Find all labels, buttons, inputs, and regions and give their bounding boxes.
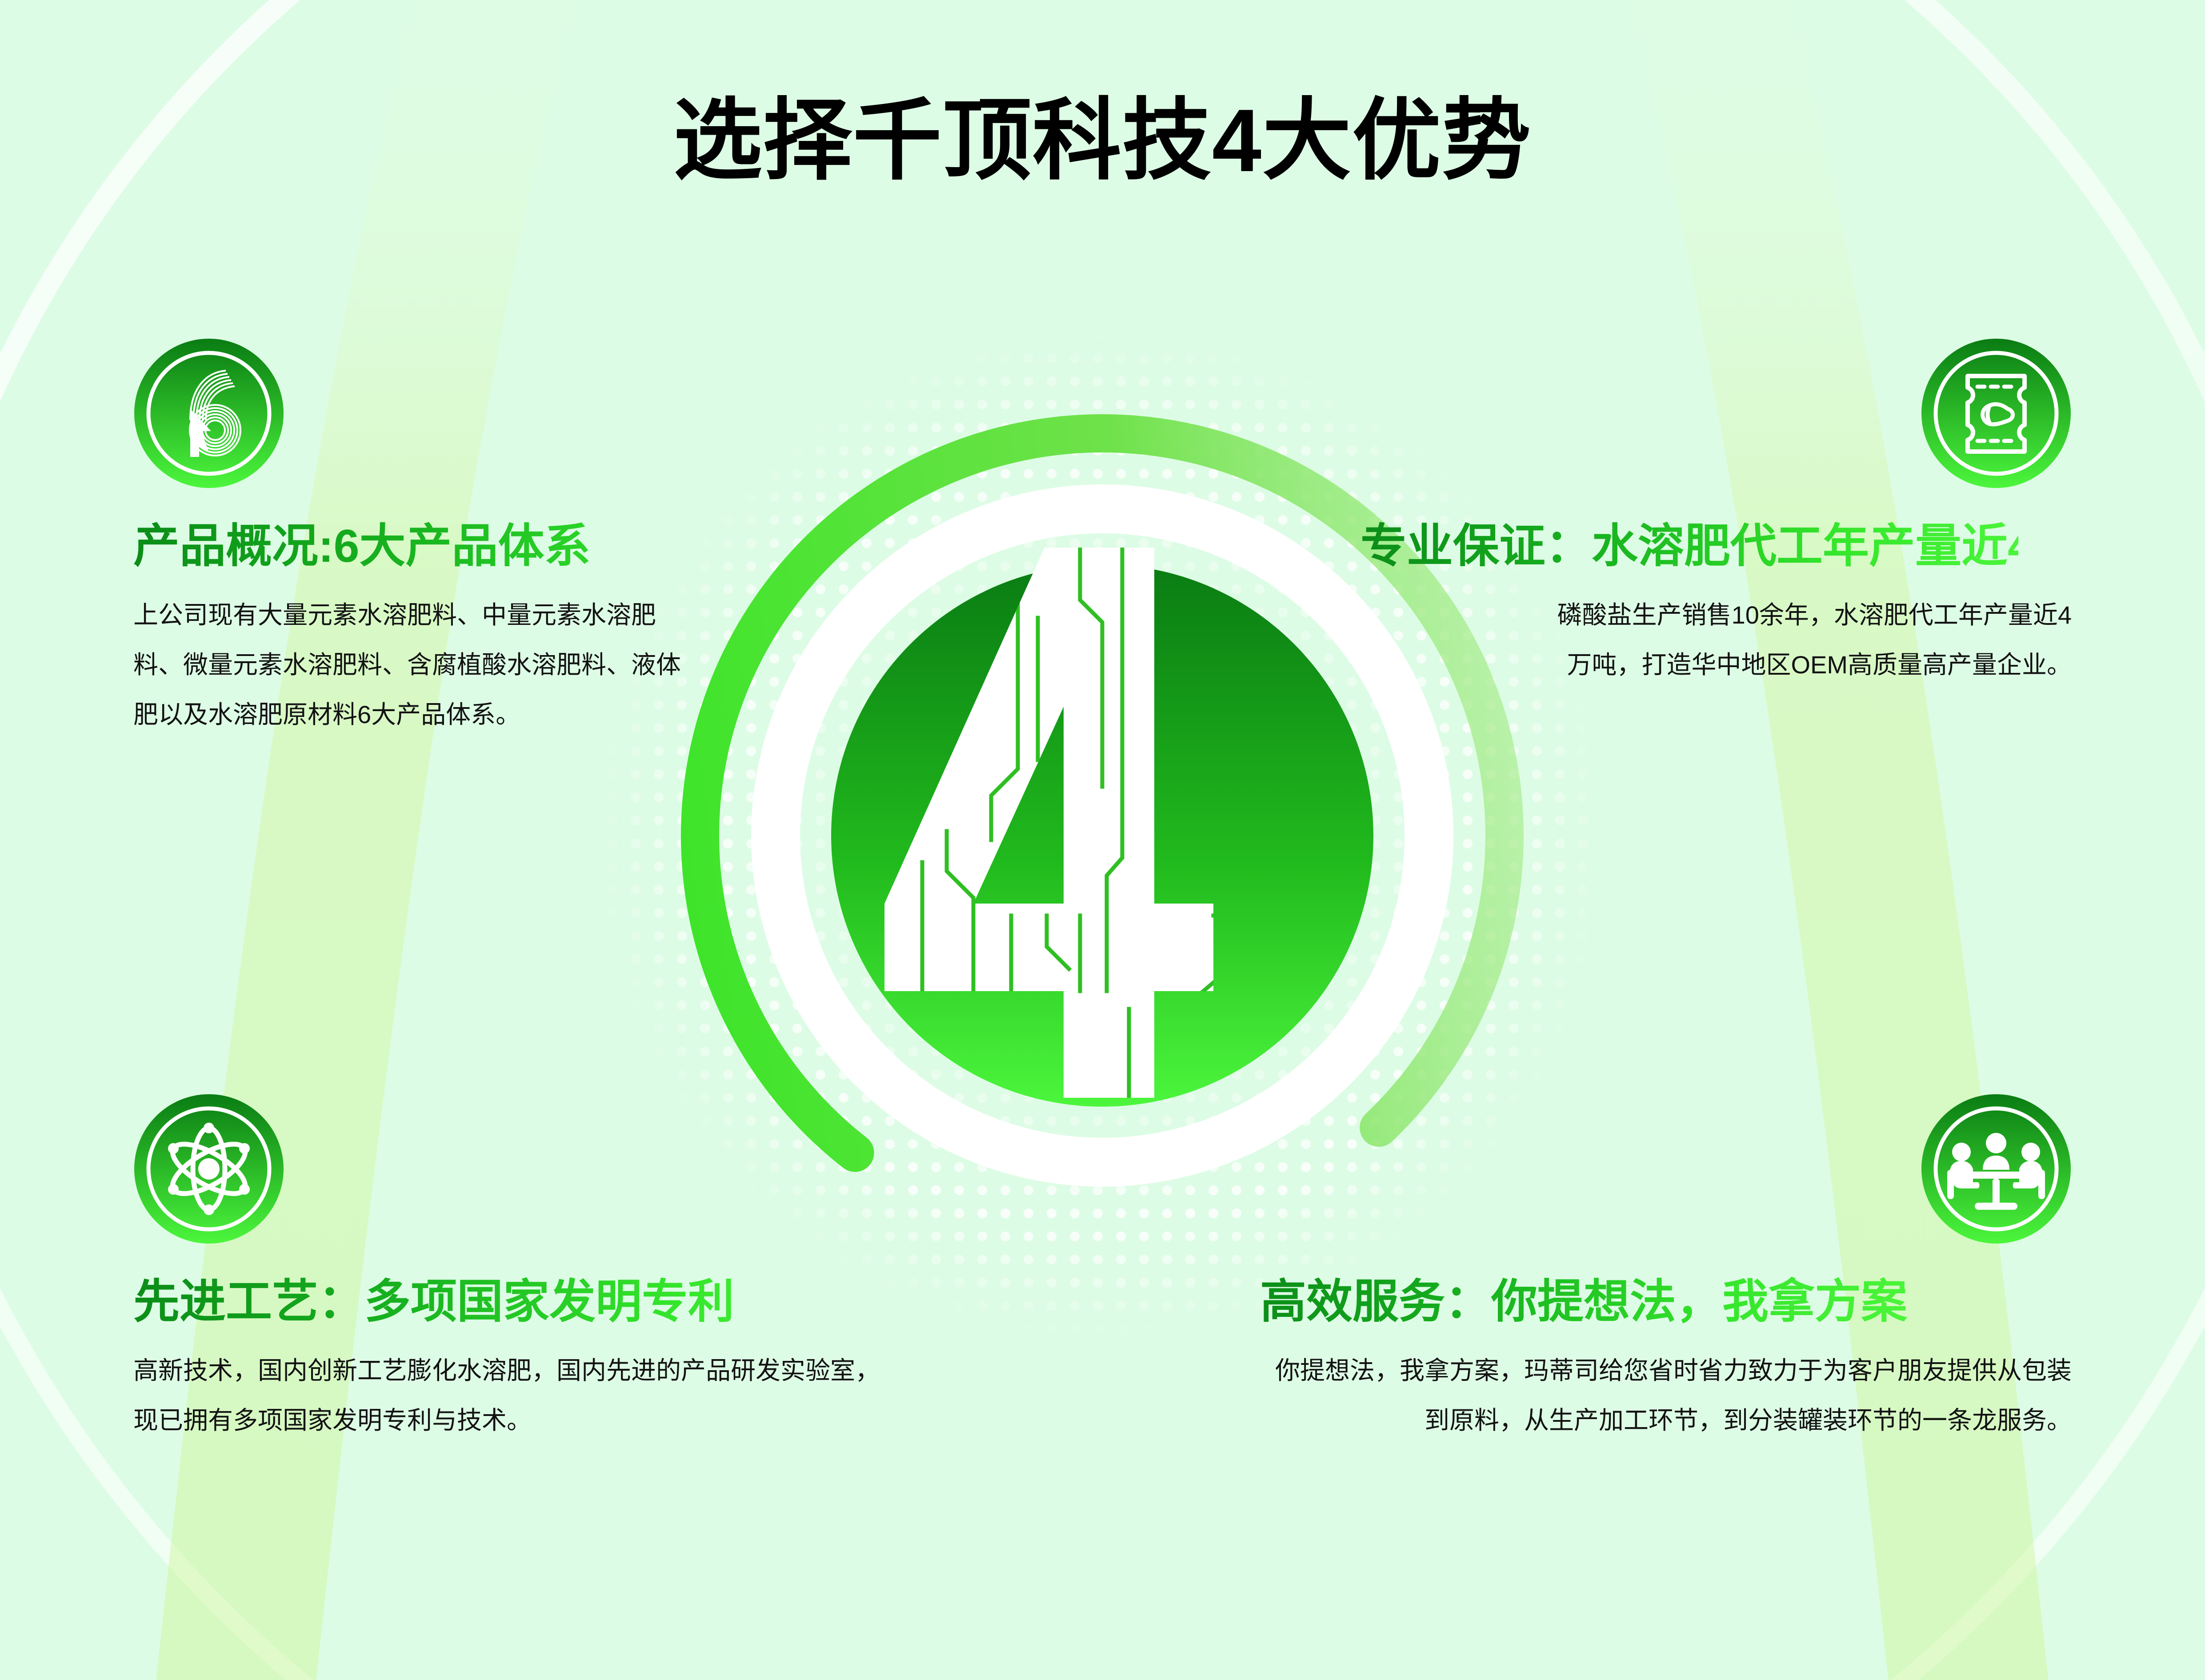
feature-heading: 先进工艺：多项国家发明专利 <box>133 1273 889 1331</box>
feature-heading: 产品概况:6大产品体系 <box>133 517 889 575</box>
feature-product-overview: 产品概况:6大产品体系 上公司现有大量元素水溶肥料、中量元素水溶肥料、微量元素水… <box>133 338 889 740</box>
meeting-table-icon <box>1921 1093 2072 1244</box>
feature-body: 你提想法，我拿方案，玛蒂司给您省时省力致力于为客户朋友提供从包装到原料，从生产加… <box>1272 1346 2072 1445</box>
feature-advanced-process: 先进工艺：多项国家发明专利 高新技术，国内创新工艺膨化水溶肥，国内先进的产品研发… <box>133 1093 889 1445</box>
feature-heading: 高效服务：你提想法，我拿方案 <box>1249 1273 1907 1331</box>
fertilizer-bag-icon <box>1921 338 2072 489</box>
feature-professional-guarantee: 专业保证：水溶肥代工年产量近4万吨 磷酸盐生产销售10余年，水溶肥代工年产量近4… <box>1361 338 2072 690</box>
feature-body: 磷酸盐生产销售10余年，水溶肥代工年产量近4万吨，打造华中地区OEM高质量高产量… <box>1547 590 2072 690</box>
atom-icon <box>133 1093 284 1244</box>
feature-efficient-service: 高效服务：你提想法，我拿方案 你提想法，我拿方案，玛蒂司给您省时省力致力于为客户… <box>1249 1093 2072 1445</box>
number-six-icon <box>133 338 284 489</box>
feature-body: 高新技术，国内创新工艺膨化水溶肥，国内先进的产品研发实验室，现已拥有多项国家发明… <box>133 1346 880 1445</box>
feature-heading: 专业保证：水溶肥代工年产量近4万吨 <box>1361 517 2018 575</box>
page-title: 选择千顶科技4大优势 <box>0 91 2205 191</box>
feature-body: 上公司现有大量元素水溶肥料、中量元素水溶肥料、微量元素水溶肥料、含腐植酸水溶肥料… <box>133 590 684 740</box>
